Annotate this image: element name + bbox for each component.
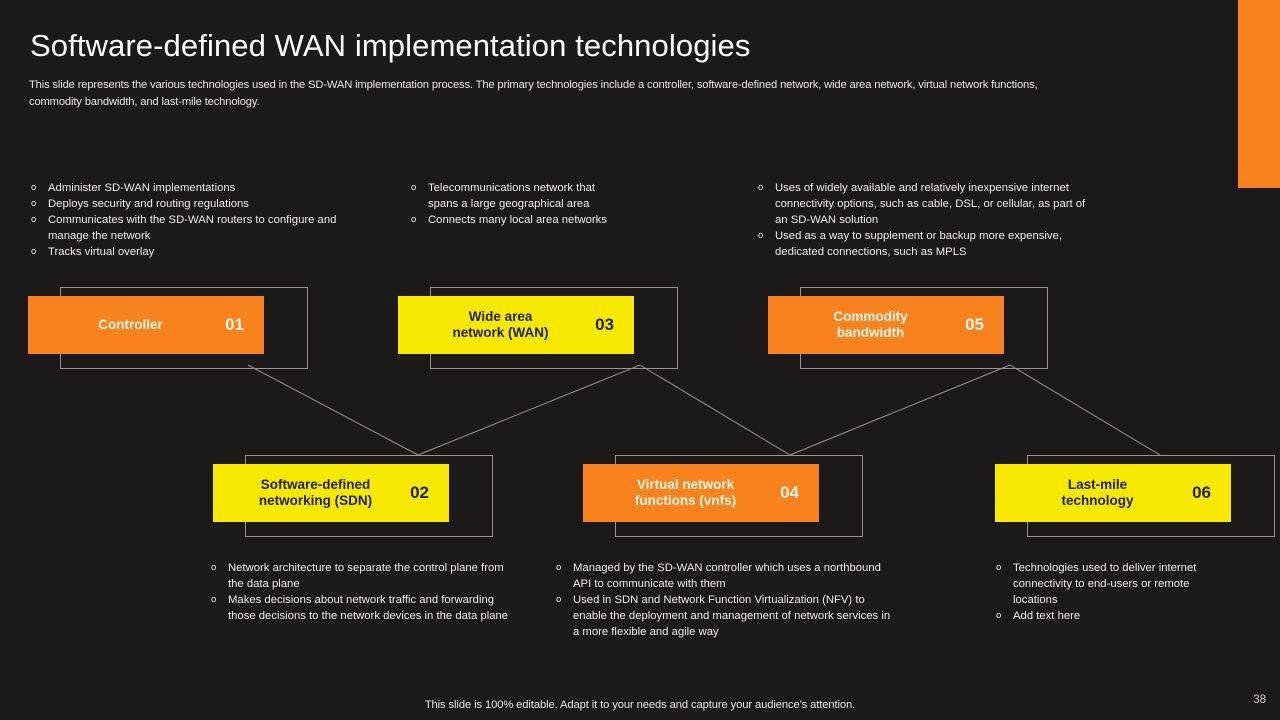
node-vnfs[interactable]: Virtual networkfunctions (vnfs) 04 — [583, 455, 835, 539]
node-label: Controller — [28, 317, 225, 333]
node-commodity[interactable]: Commoditybandwidth 05 — [768, 287, 1020, 371]
accent-bar-orange — [1238, 0, 1280, 188]
list-item: Telecommunications network that spans a … — [410, 180, 610, 212]
page-number: 38 — [1253, 694, 1266, 706]
node-chip[interactable]: Last-miletechnology 06 — [995, 464, 1231, 522]
bullet-group-sdn: Network architecture to separate the con… — [210, 560, 510, 624]
bullet-group-wan: Telecommunications network that spans a … — [410, 180, 610, 228]
node-chip[interactable]: Virtual networkfunctions (vnfs) 04 — [583, 464, 819, 522]
node-number: 04 — [780, 483, 803, 503]
node-number: 06 — [1192, 483, 1215, 503]
node-chip[interactable]: Controller 01 — [28, 296, 264, 354]
list-item: Managed by the SD-WAN controller which u… — [555, 560, 895, 592]
node-label: Virtual networkfunctions (vnfs) — [583, 477, 780, 509]
list-item: Deploys security and routing regulations — [30, 196, 360, 212]
list-item: Network architecture to separate the con… — [210, 560, 510, 592]
node-chip[interactable]: Commoditybandwidth 05 — [768, 296, 1004, 354]
page-subtitle: This slide represents the various techno… — [29, 77, 1059, 111]
node-number: 05 — [965, 315, 988, 335]
bullet-group-vnfs: Managed by the SD-WAN controller which u… — [555, 560, 895, 640]
node-sdn[interactable]: Software-definednetworking (SDN) 02 — [213, 455, 465, 539]
list-item: Tracks virtual overlay — [30, 244, 360, 260]
bullet-group-controller: Administer SD-WAN implementations Deploy… — [30, 180, 360, 260]
node-label: Software-definednetworking (SDN) — [213, 477, 410, 509]
list-item: Add text here — [995, 608, 1230, 624]
node-wan[interactable]: Wide areanetwork (WAN) 03 — [398, 287, 650, 371]
list-item: Used as a way to supplement or backup mo… — [757, 228, 1087, 260]
list-item: Connects many local area networks — [410, 212, 610, 228]
slide-canvas: Software-defined WAN implementation tech… — [0, 0, 1280, 720]
list-item: Communicates with the SD-WAN routers to … — [30, 212, 360, 244]
bullet-group-commodity: Uses of widely available and relatively … — [757, 180, 1087, 260]
list-item: Used in SDN and Network Function Virtual… — [555, 592, 895, 640]
footer-note: This slide is 100% editable. Adapt it to… — [0, 699, 1280, 711]
list-item: Administer SD-WAN implementations — [30, 180, 360, 196]
node-number: 01 — [225, 315, 248, 335]
node-number: 02 — [410, 483, 433, 503]
node-label: Wide areanetwork (WAN) — [398, 309, 595, 341]
node-label: Last-miletechnology — [995, 477, 1192, 509]
node-number: 03 — [595, 315, 618, 335]
node-label: Commoditybandwidth — [768, 309, 965, 341]
list-item: Technologies used to deliver internet co… — [995, 560, 1230, 608]
page-title: Software-defined WAN implementation tech… — [30, 26, 1130, 66]
node-chip[interactable]: Wide areanetwork (WAN) 03 — [398, 296, 634, 354]
bullet-group-lastmile: Technologies used to deliver internet co… — [995, 560, 1230, 624]
list-item: Uses of widely available and relatively … — [757, 180, 1087, 228]
list-item: Makes decisions about network traffic an… — [210, 592, 510, 624]
node-lastmile[interactable]: Last-miletechnology 06 — [995, 455, 1247, 539]
node-controller[interactable]: Controller 01 — [28, 287, 280, 371]
node-chip[interactable]: Software-definednetworking (SDN) 02 — [213, 464, 449, 522]
